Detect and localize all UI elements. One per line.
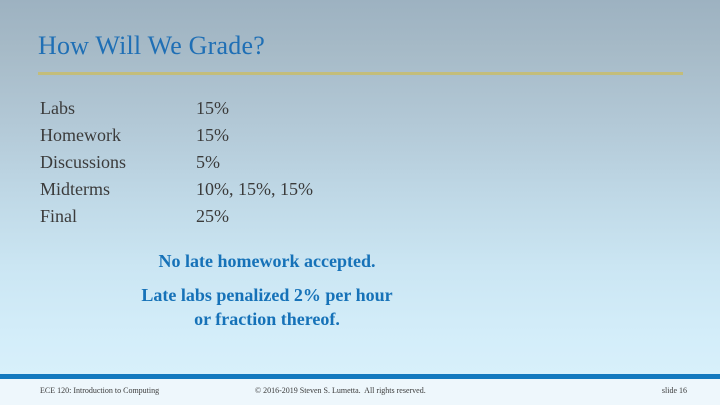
grade-item-label: Homework (40, 122, 196, 149)
grade-item-label: Midterms (40, 176, 196, 203)
callout-line-late-labs-part2: or fraction thereof. (0, 307, 534, 331)
callout-line-late-labs-part1: Late labs penalized 2% per hour (0, 283, 534, 307)
table-row: Homework 15% (40, 122, 460, 149)
late-policy-callout: No late homework accepted. Late labs pen… (0, 249, 534, 331)
grade-item-weight: 5% (196, 149, 460, 176)
footer-slide-number: slide 16 (662, 386, 687, 395)
table-row: Labs 15% (40, 95, 460, 122)
footer-course-name: ECE 120: Introduction to Computing (40, 386, 159, 395)
footer-copyright: © 2016-2019 Steven S. Lumetta. All right… (255, 386, 426, 395)
grade-item-weight: 25% (196, 203, 460, 230)
table-row: Discussions 5% (40, 149, 460, 176)
grade-item-weight: 10%, 15%, 15% (196, 176, 460, 203)
callout-line-no-late-homework: No late homework accepted. (0, 249, 534, 273)
grade-item-weight: 15% (196, 122, 460, 149)
grade-item-label: Discussions (40, 149, 196, 176)
slide: How Will We Grade? Labs 15% Homework 15%… (0, 0, 720, 405)
grade-item-label: Final (40, 203, 196, 230)
grading-table: Labs 15% Homework 15% Discussions 5% Mid… (40, 95, 460, 230)
table-row: Midterms 10%, 15%, 15% (40, 176, 460, 203)
grade-item-weight: 15% (196, 95, 460, 122)
grade-item-label: Labs (40, 95, 196, 122)
callout-line-late-labs: Late labs penalized 2% per hour or fract… (0, 283, 534, 331)
title-underline-rule (38, 72, 683, 75)
page-title: How Will We Grade? (38, 30, 265, 62)
table-row: Final 25% (40, 203, 460, 230)
